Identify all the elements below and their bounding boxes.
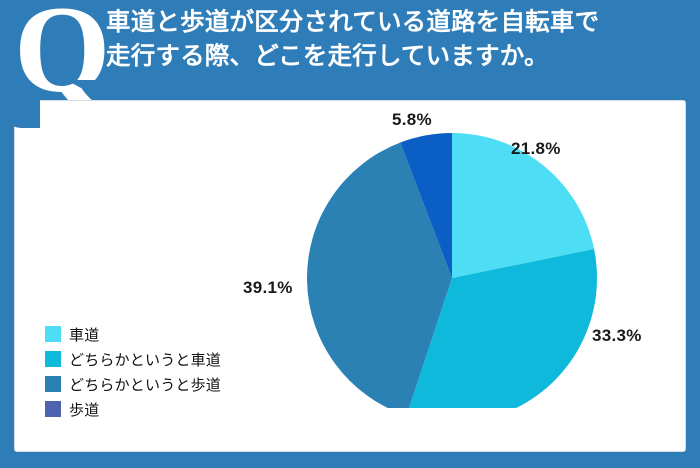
question-header: Q 車道と歩道が区分されている道路を自転車で 走行する際、どこを走行していますか… [0, 0, 700, 108]
chart-legend: 車道 どちらかというと車道 どちらかというと歩道 歩道 [45, 322, 255, 422]
bottom-accent-strip [0, 454, 700, 468]
pie-value-label: 39.1% [243, 278, 293, 298]
pie-value-label: 33.3% [592, 326, 642, 346]
legend-item-label: 歩道 [69, 399, 99, 420]
legend-swatch-icon [45, 326, 61, 342]
question-title-line2: 走行する際、どこを走行していますか。 [106, 40, 694, 74]
question-title: 車道と歩道が区分されている道路を自転車で 走行する際、どこを走行していますか。 [106, 6, 694, 74]
header-left-tab [0, 88, 40, 128]
legend-item-label: 車道 [69, 324, 99, 345]
legend-swatch-icon [45, 376, 61, 392]
pie-value-label: 21.8% [511, 139, 561, 159]
pie-chart [250, 108, 660, 408]
legend-swatch-icon [45, 401, 61, 417]
legend-item[interactable]: 車道 [45, 322, 255, 346]
question-note: ※「普通自転車歩道通行可」の標識や、「普通自転車通行帯」は設置されていないものと… [325, 84, 692, 96]
question-title-line1: 車道と歩道が区分されている道路を自転車で [106, 6, 694, 40]
legend-item-label: どちらかというと歩道 [69, 374, 221, 395]
pie-value-label: 5.8% [392, 110, 432, 130]
legend-item-label: どちらかというと車道 [69, 349, 221, 370]
legend-item[interactable]: どちらかというと車道 [45, 347, 255, 371]
pie-chart-svg [250, 108, 660, 408]
legend-swatch-icon [45, 351, 61, 367]
infographic-page: Q 車道と歩道が区分されている道路を自転車で 走行する際、どこを走行していますか… [0, 0, 700, 468]
pie-slice-group [307, 133, 597, 408]
legend-item[interactable]: 歩道 [45, 397, 255, 421]
legend-item[interactable]: どちらかというと歩道 [45, 372, 255, 396]
